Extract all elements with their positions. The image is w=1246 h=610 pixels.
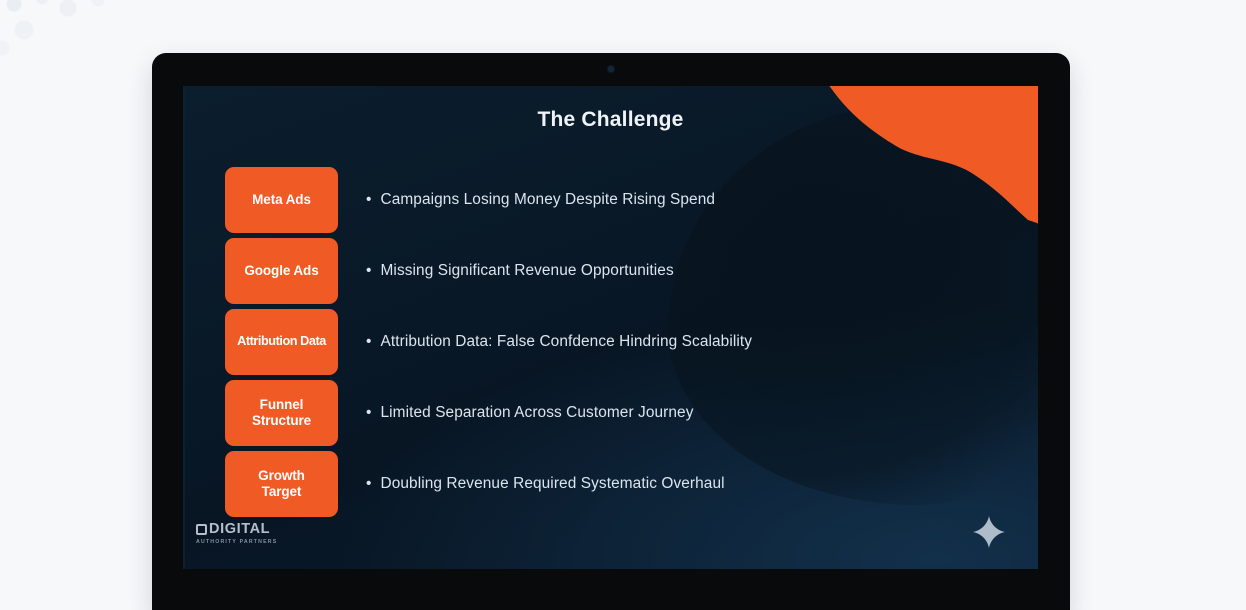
- laptop-screen: The Challenge Meta Ads •Campaigns Losing…: [183, 86, 1038, 569]
- pill-label: GrowthTarget: [258, 468, 305, 500]
- bullet-text: Campaigns Losing Money Despite Rising Sp…: [381, 191, 716, 208]
- bullet-marker-icon: •: [366, 191, 372, 208]
- presentation-slide: The Challenge Meta Ads •Campaigns Losing…: [183, 86, 1038, 569]
- pill-label: Attribution Data: [237, 334, 326, 349]
- bullet-text: Doubling Revenue Required Systematic Ove…: [381, 475, 725, 492]
- logo-name: DIGITAL: [209, 522, 270, 537]
- challenge-list: Meta Ads •Campaigns Losing Money Despite…: [225, 164, 1008, 519]
- bullet-marker-icon: •: [366, 333, 372, 350]
- pill-label: FunnelStructure: [252, 397, 311, 429]
- bullet-text: Limited Separation Across Customer Journ…: [381, 404, 694, 421]
- bullet-marker-icon: •: [366, 475, 372, 492]
- list-item: GrowthTarget •Doubling Revenue Required …: [225, 448, 1008, 519]
- bullet-text: Missing Significant Revenue Opportunitie…: [381, 262, 674, 279]
- pill-funnel-structure[interactable]: FunnelStructure: [225, 380, 338, 446]
- logo-tagline: AUTHORITY PARTNERS: [196, 540, 277, 545]
- pill-meta-ads[interactable]: Meta Ads: [225, 167, 338, 233]
- bullet-text: Attribution Data: False Confdence Hindri…: [381, 333, 753, 350]
- list-item: Meta Ads •Campaigns Losing Money Despite…: [225, 164, 1008, 235]
- bullet-row: •Doubling Revenue Required Systematic Ov…: [366, 475, 725, 493]
- bullet-row: •Attribution Data: False Confdence Hindr…: [366, 333, 752, 351]
- sparkle-icon: [972, 515, 1006, 549]
- page-corner-texture: [0, 0, 144, 70]
- pill-google-ads[interactable]: Google Ads: [225, 238, 338, 304]
- list-item: Google Ads •Missing Significant Revenue …: [225, 235, 1008, 306]
- bullet-marker-icon: •: [366, 262, 372, 279]
- list-item: Attribution Data •Attribution Data: Fals…: [225, 306, 1008, 377]
- laptop-mockup: The Challenge Meta Ads •Campaigns Losing…: [152, 53, 1070, 610]
- bullet-row: •Campaigns Losing Money Despite Rising S…: [366, 191, 715, 209]
- list-item: FunnelStructure •Limited Separation Acro…: [225, 377, 1008, 448]
- bullet-row: •Missing Significant Revenue Opportuniti…: [366, 262, 674, 280]
- bullet-row: •Limited Separation Across Customer Jour…: [366, 404, 694, 422]
- pill-label: Meta Ads: [252, 192, 311, 208]
- logo-wordmark: DIGITAL: [196, 522, 277, 537]
- camera-dot-icon: [608, 66, 614, 72]
- page-title: The Challenge: [183, 108, 1038, 132]
- logo-square-icon: [196, 524, 207, 535]
- pill-label: Google Ads: [244, 263, 318, 279]
- brand-logo: DIGITAL AUTHORITY PARTNERS: [196, 522, 277, 545]
- bullet-marker-icon: •: [366, 404, 372, 421]
- pill-attribution-data[interactable]: Attribution Data: [225, 309, 338, 375]
- pill-growth-target[interactable]: GrowthTarget: [225, 451, 338, 517]
